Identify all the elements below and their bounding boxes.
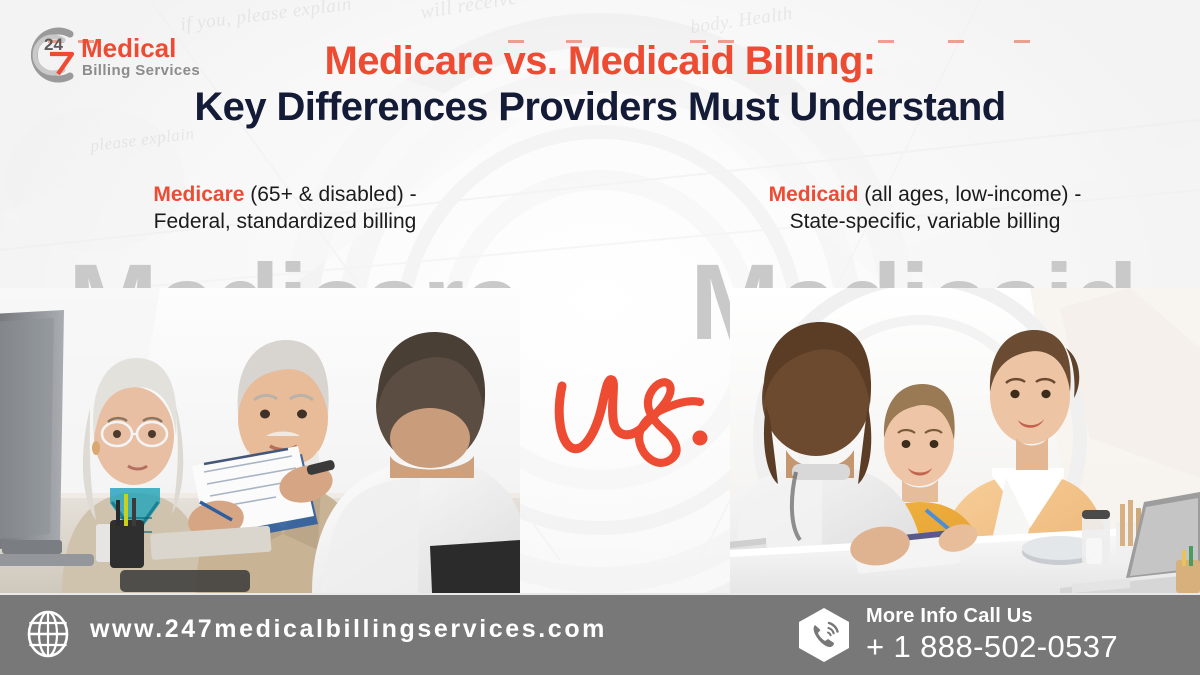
subtitle-medicaid: Medicaid (all ages, low-income) - State-… <box>700 182 1150 236</box>
globe-icon <box>24 610 72 658</box>
subtitle-medicaid-rest: (all ages, low-income) - <box>858 183 1081 206</box>
footer-bar: www.247medicalbillingservices.com More I… <box>0 593 1200 675</box>
subtitle-medicaid-highlight: Medicaid <box>769 183 859 206</box>
subtitle-medicare-line2: Federal, standardized billing <box>154 210 417 233</box>
versus-script-label <box>540 350 740 480</box>
subtitle-medicare: Medicare (65+ & disabled) - Federal, sta… <box>60 182 510 236</box>
photo-medicaid-consultation <box>730 288 1200 593</box>
subtitle-medicaid-line2: State-specific, variable billing <box>790 210 1061 233</box>
banner-canvas: if you, please explain will receive body… <box>0 0 1200 675</box>
page-title: Medicare vs. Medicaid Billing: Key Diffe… <box>0 40 1200 130</box>
website-url[interactable]: www.247medicalbillingservices.com <box>90 615 607 644</box>
subtitle-medicare-rest: (65+ & disabled) - <box>244 183 416 206</box>
phone-call-icon <box>796 607 852 663</box>
subtitle-medicare-highlight: Medicare <box>153 183 244 206</box>
title-line-2: Key Differences Providers Must Understan… <box>0 85 1200 130</box>
phone-number[interactable]: + 1 888-502-0537 <box>866 629 1118 665</box>
title-line-1: Medicare vs. Medicaid Billing: <box>0 40 1200 83</box>
footer-top-divider <box>0 593 1200 595</box>
photo-medicare-consultation <box>0 288 520 593</box>
call-us-label: More Info Call Us <box>866 605 1033 628</box>
